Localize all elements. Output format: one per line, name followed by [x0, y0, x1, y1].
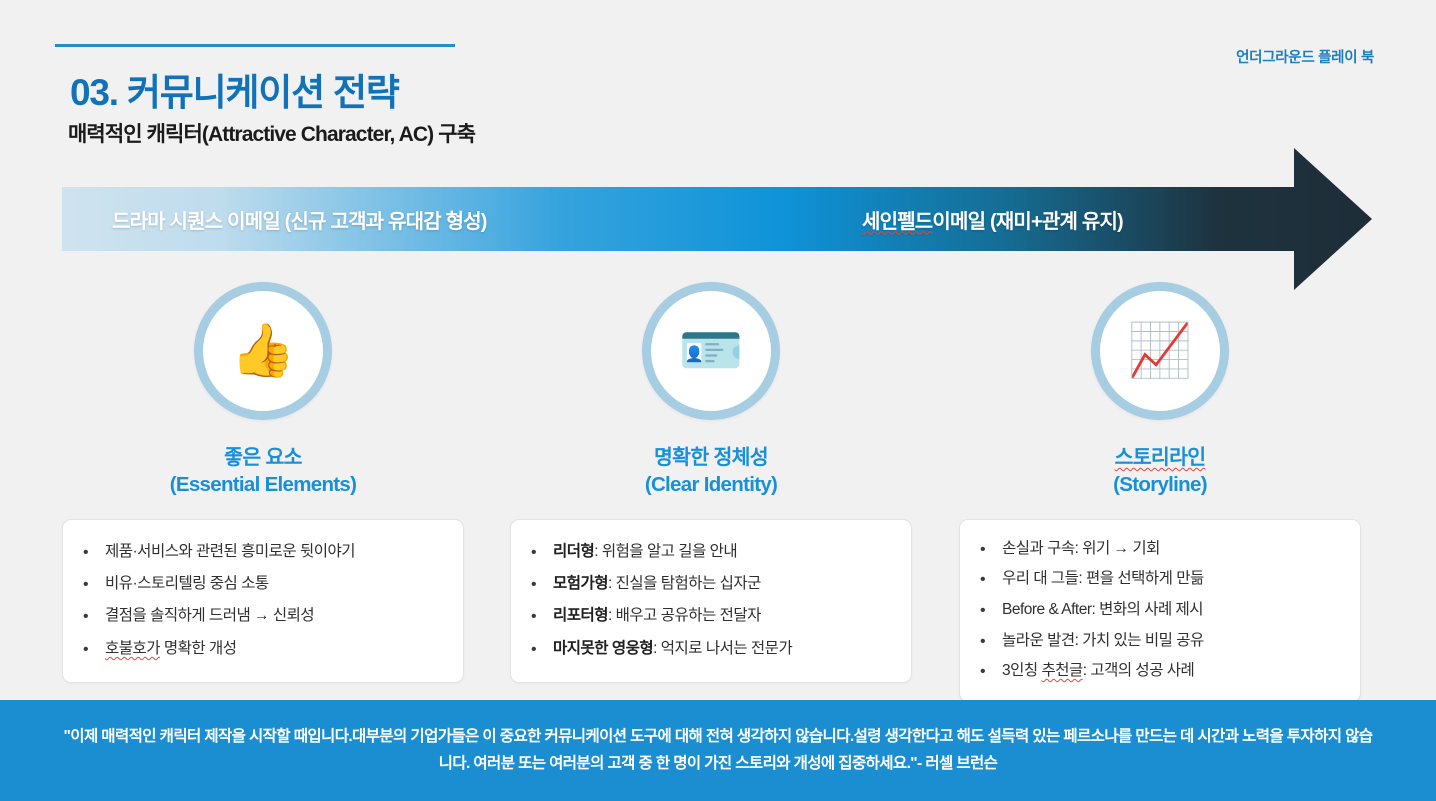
bullet-lead: 리더형: [553, 543, 594, 560]
bullet-spell-term: 호불호가: [105, 640, 160, 657]
bullet-dot: •: [980, 631, 1002, 652]
bullet-text: 모험가형: 진실을 탐험하는 십자군: [553, 574, 893, 595]
pillar-2-list: •리더형: 위험을 알고 길을 안내 •모험가형: 진실을 탐험하는 십자군 •…: [531, 536, 893, 666]
pillar-2-title-en: (Clear Identity): [485, 471, 937, 498]
bullet-dot: •: [531, 574, 553, 595]
bullet-dot: •: [531, 639, 553, 660]
arrow-label-left: 드라마 시퀀스 이메일 (신규 고객과 유대감 형성): [112, 146, 487, 292]
brand-label: 언더그라운드 플레이 북: [1236, 46, 1374, 67]
bullet-text: 비유·스토리텔링 중심 소통: [105, 574, 445, 595]
pillar-2-badge: 🪪: [642, 282, 780, 420]
pillar-3-badge: 📈: [1091, 282, 1229, 420]
bullet-dot: •: [83, 606, 105, 627]
page-subtitle: 매력적인 캐릭터(Attractive Character, AC) 구축: [68, 118, 475, 148]
pillar-3-title-ko: 스토리라인: [1115, 446, 1206, 469]
pillar-1-title-ko: 좋은 요소: [224, 446, 302, 469]
pillar-2-heading: 명확한 정체성 (Clear Identity): [485, 444, 937, 498]
list-item: •모험가형: 진실을 탐험하는 십자군: [531, 569, 893, 601]
bullet-rest: : 위험을 알고 길을 안내: [594, 543, 737, 560]
pillar-1-list: •제품·서비스와 관련된 흥미로운 뒷이야기 •비유·스토리텔링 중심 소통 •…: [83, 536, 445, 666]
list-item: •리더형: 위험을 알고 길을 안내: [531, 536, 893, 568]
bullet-lead: 모험가형: [553, 575, 608, 592]
list-item: •제품·서비스와 관련된 흥미로운 뒷이야기: [83, 536, 445, 568]
bullet-text: 마지못한 영웅형: 억지로 나서는 전문가: [553, 639, 893, 660]
pillar-3-heading: 스토리라인 (Storyline): [934, 444, 1386, 498]
arrow-label-right-rest: 이메일 (재미+관계 유지): [932, 205, 1123, 234]
pillar-2-card: •리더형: 위험을 알고 길을 안내 •모험가형: 진실을 탐험하는 십자군 •…: [510, 519, 912, 683]
bullet-dot: •: [980, 569, 1002, 590]
list-item: •결점을 솔직하게 드러냄 → 신뢰성: [83, 601, 445, 633]
thumbs-up-star-icon: 👍: [231, 325, 296, 377]
chart-increasing-icon: 📈: [1128, 325, 1193, 377]
bullet-text: 손실과 구속: 위기 → 기회: [1002, 539, 1342, 560]
list-item: •호불호가 명확한 개성: [83, 633, 445, 665]
bullet-spell-term: 추천글: [1041, 662, 1082, 679]
pillar-storyline: 📈 스토리라인 (Storyline) •손실과 구속: 위기 → 기회 •우리…: [934, 282, 1386, 702]
pillar-essential-elements: 👍 좋은 요소 (Essential Elements) •제품·서비스와 관련…: [37, 282, 489, 683]
quote-text: "이제 매력적인 캐릭터 제작을 시작할 때입니다.대부분의 기업가들은 이 중…: [58, 724, 1378, 777]
list-item: •리포터형: 배우고 공유하는 전달자: [531, 601, 893, 633]
pillar-1-card: •제품·서비스와 관련된 흥미로운 뒷이야기 •비유·스토리텔링 중심 소통 •…: [62, 519, 464, 683]
bullet-dot: •: [980, 600, 1002, 621]
bullet-text: 리더형: 위험을 알고 길을 안내: [553, 542, 893, 563]
arrow-label-right-term: 세인펠드: [862, 205, 932, 234]
quote-banner: "이제 매력적인 캐릭터 제작을 시작할 때입니다.대부분의 기업가들은 이 중…: [0, 700, 1436, 801]
quote-body: "이제 매력적인 캐릭터 제작을 시작할 때입니다.대부분의 기업가들은 이 중…: [64, 728, 1373, 772]
bullet-text: 리포터형: 배우고 공유하는 전달자: [553, 606, 893, 627]
list-item: •Before & After: 변화의 사례 제시: [980, 595, 1342, 626]
pillar-1-badge: 👍: [194, 282, 332, 420]
bullet-text: 제품·서비스와 관련된 흥미로운 뒷이야기: [105, 542, 445, 563]
bullet-text: 3인칭 추천글: 고객의 성공 사례: [1002, 661, 1342, 682]
bullet-lead: 마지못한 영웅형: [553, 640, 653, 657]
list-item: •3인칭 추천글: 고객의 성공 사례: [980, 657, 1342, 688]
bullet-lead: 리포터형: [553, 607, 608, 624]
pillar-clear-identity: 🪪 명확한 정체성 (Clear Identity) •리더형: 위험을 알고 …: [485, 282, 937, 683]
id-badge-check-icon: 🪪: [679, 325, 744, 377]
arrow-label-right: 세인펠드 이메일 (재미+관계 유지): [862, 146, 1123, 292]
pillar-3-list: •손실과 구속: 위기 → 기회 •우리 대 그들: 편을 선택하게 만듦 •B…: [980, 534, 1342, 687]
bullet-rest: : 진실을 탐험하는 십자군: [608, 575, 761, 592]
page-title: 03. 커뮤니케이션 전략: [70, 62, 399, 116]
bullet-text: 호불호가 명확한 개성: [105, 639, 445, 660]
bullet-dot: •: [980, 539, 1002, 560]
bullet-dot: •: [83, 574, 105, 595]
pillar-1-heading: 좋은 요소 (Essential Elements): [37, 444, 489, 498]
bullet-text: Before & After: 변화의 사례 제시: [1002, 600, 1342, 621]
bullet-text: 우리 대 그들: 편을 선택하게 만듦: [1002, 569, 1342, 590]
bullet-dot: •: [980, 661, 1002, 682]
pillar-3-title-en: (Storyline): [934, 471, 1386, 498]
bullet-rest: : 억지로 나서는 전문가: [653, 640, 792, 657]
pillar-3-card: •손실과 구속: 위기 → 기회 •우리 대 그들: 편을 선택하게 만듦 •B…: [959, 519, 1361, 702]
list-item: •놀라운 발견: 가치 있는 비밀 공유: [980, 626, 1342, 657]
bullet-dot: •: [531, 542, 553, 563]
bullet-dot: •: [83, 542, 105, 563]
bullet-rest: : 배우고 공유하는 전달자: [608, 607, 761, 624]
progression-arrow: 드라마 시퀀스 이메일 (신규 고객과 유대감 형성) 세인펠드 이메일 (재미…: [62, 146, 1374, 292]
bullet-dot: •: [531, 606, 553, 627]
list-item: •우리 대 그들: 편을 선택하게 만듦: [980, 565, 1342, 596]
bullet-dot: •: [83, 639, 105, 660]
list-item: •마지못한 영웅형: 억지로 나서는 전문가: [531, 633, 893, 665]
title-divider: [55, 44, 455, 47]
pillar-1-title-en: (Essential Elements): [37, 471, 489, 498]
bullet-text: 놀라운 발견: 가치 있는 비밀 공유: [1002, 631, 1342, 652]
bullet-text: 결점을 솔직하게 드러냄 → 신뢰성: [105, 606, 445, 627]
list-item: •비유·스토리텔링 중심 소통: [83, 569, 445, 601]
list-item: •손실과 구속: 위기 → 기회: [980, 534, 1342, 565]
pillar-2-title-ko: 명확한 정체성: [654, 446, 768, 469]
